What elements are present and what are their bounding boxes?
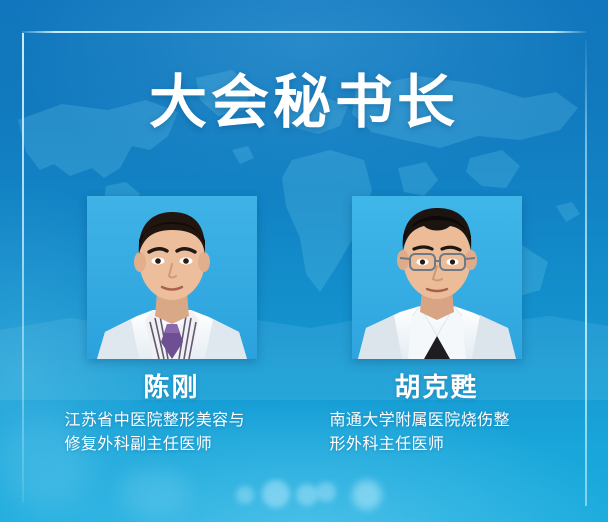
person-name: 陈刚 [87,372,257,402]
page-title: 大会秘书长 [0,70,608,136]
affiliation-line: 修复外科副主任医师 [65,433,279,457]
affiliation-line: 江苏省中医院整形美容与 [65,409,279,433]
person-card: 陈刚 江苏省中医院整形美容与 修复外科副主任医师 [87,196,257,457]
person-card: 胡克甦 南通大学附属医院烧伤整 形外科主任医师 [352,196,522,457]
person-affiliation: 江苏省中医院整形美容与 修复外科副主任医师 [65,409,279,457]
poster-root: 大会秘书长 [0,0,608,522]
person-name: 胡克甦 [352,372,522,402]
affiliation-line: 南通大学附属医院烧伤整 [330,409,544,433]
bokeh-light [120,468,190,518]
bokeh-light [316,482,336,502]
portrait-photo-chen-gang [87,196,257,359]
person-affiliation: 南通大学附属医院烧伤整 形外科主任医师 [330,409,544,457]
portrait-photo-hu-ke-su [352,196,522,359]
bokeh-light [262,480,290,508]
people-list: 陈刚 江苏省中医院整形美容与 修复外科副主任医师 [0,196,608,457]
bokeh-light [236,486,254,504]
bokeh-light [296,484,318,506]
top-divider-line [22,31,586,33]
affiliation-line: 形外科主任医师 [330,433,544,457]
bokeh-light [352,480,382,510]
